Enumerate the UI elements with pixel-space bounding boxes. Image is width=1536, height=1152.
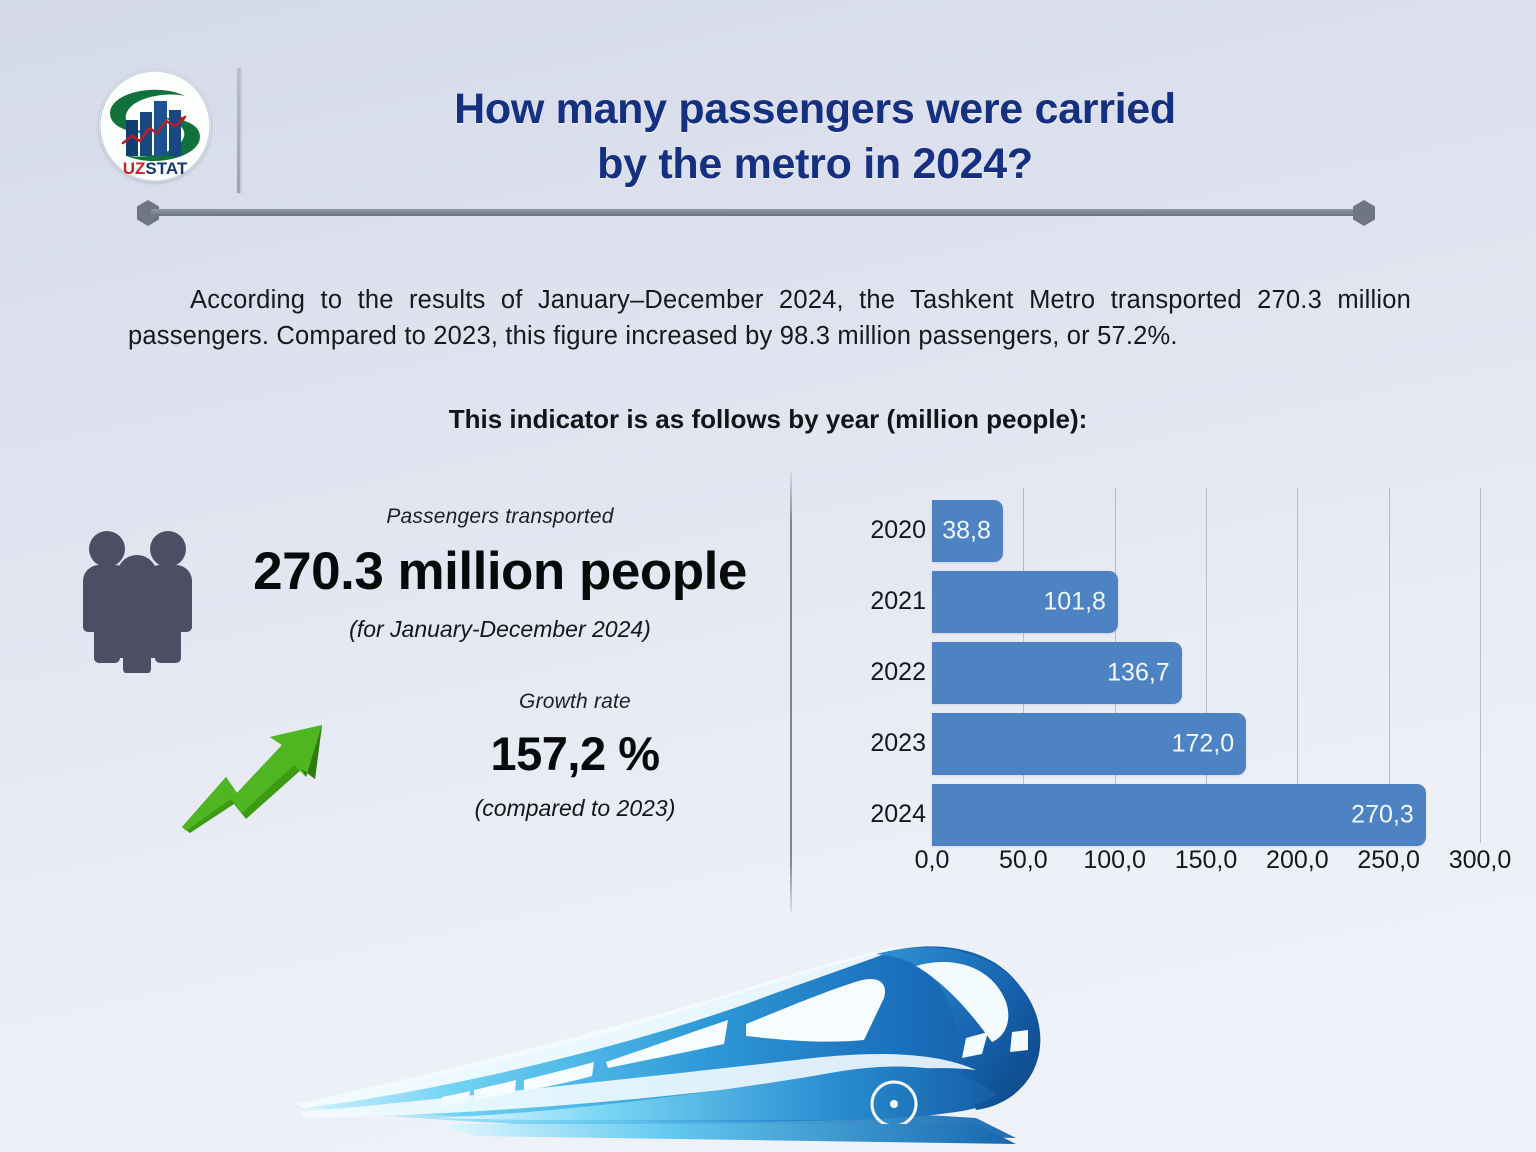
chart-bar-value-label: 172,0 [1172,732,1235,757]
chart-x-tick-label: 100,0 [1083,846,1146,875]
chart-x-tick-label: 300,0 [1449,846,1512,875]
chart-bar: 270,3 [932,784,1426,846]
chart-bar: 38,8 [932,500,1003,562]
green-up-arrow-icon [174,715,339,835]
stat-value: 157,2 % [360,726,790,781]
chart-bar-value-label: 101,8 [1043,590,1106,615]
bar-chart: 20202021202220232024 38,8101,8136,7172,0… [848,488,1488,883]
chart-bar: 101,8 [932,571,1118,633]
chart-plot-area: 38,8101,8136,7172,0270,3 [932,488,1480,843]
chart-category-label: 2024 [848,802,926,827]
chart-bar-value-label: 136,7 [1107,661,1170,686]
stat-caption: Growth rate [360,690,790,714]
chart-x-tick-label: 150,0 [1175,846,1238,875]
page-title-line2: by the metro in 2024? [270,137,1360,192]
chart-category-label: 2023 [848,731,926,756]
stat-note: (for January-December 2024) [220,616,780,643]
stat-card-growth: Growth rate 157,2 % (compared to 2023) [160,690,790,822]
chart-x-tick-label: 0,0 [915,846,950,875]
chart-x-tick-label: 200,0 [1266,846,1329,875]
header: UZSTAT How many passengers were carried … [0,0,1536,240]
chart-subheading: This indicator is as follows by year (mi… [0,404,1536,435]
stat-note: (compared to 2023) [360,795,790,822]
chart-bar-value-label: 38,8 [942,519,991,544]
chart-x-tick-label: 250,0 [1357,846,1420,875]
stat-value: 270.3 million people [220,541,780,602]
logo-text-uz: UZ [123,159,146,178]
header-divider [237,68,240,193]
chart-x-axis: 0,050,0100,0150,0200,0250,0300,0 [932,846,1492,880]
page-title-line1: How many passengers were carried [270,82,1360,137]
chart-gridline [1480,488,1481,843]
uzstat-logo: UZSTAT [99,70,211,189]
intro-paragraph: According to the results of January–Dece… [128,282,1411,354]
people-group-icon [76,523,200,673]
chart-bar: 136,7 [932,642,1182,704]
chart-category-labels: 20202021202220232024 [848,488,926,843]
stat-text-growth: Growth rate 157,2 % (compared to 2023) [360,690,790,822]
high-speed-train-illustration [276,928,1076,1152]
chart-x-tick-label: 50,0 [999,846,1048,875]
hexagon-cap-right-icon [1353,200,1375,226]
stat-text-passengers: Passengers transported 270.3 million peo… [220,505,780,643]
rule-line [151,209,1361,216]
svg-text:UZSTAT: UZSTAT [123,159,188,178]
logo-circle: UZSTAT [99,70,211,182]
chart-bar-value-label: 270,3 [1351,803,1414,828]
logo-text-stat: STAT [145,159,187,178]
column-divider [790,472,792,912]
chart-category-label: 2020 [848,518,926,543]
chart-bar: 172,0 [932,713,1246,775]
stat-card-passengers: Passengers transported 270.3 million peo… [60,505,780,643]
chart-category-label: 2022 [848,660,926,685]
logo-graphic: UZSTAT [99,70,211,182]
chart-category-label: 2021 [848,589,926,614]
page-title: How many passengers were carried by the … [270,82,1360,191]
stat-caption: Passengers transported [220,505,780,529]
header-rule [137,200,1375,226]
